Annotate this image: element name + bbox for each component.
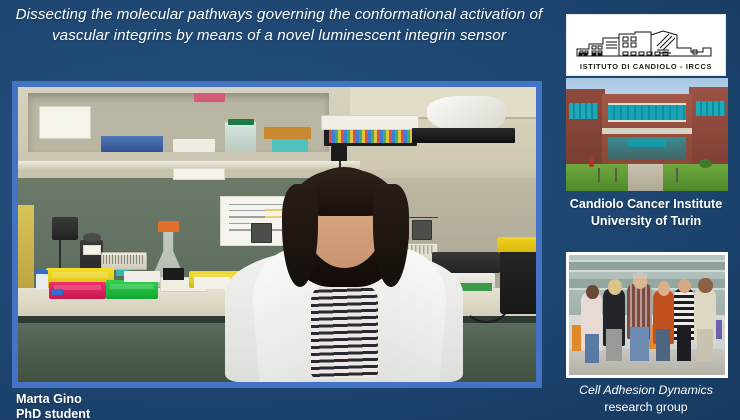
logo-text: ISTITUTO DI CANDIOLO - IRCCS xyxy=(580,62,712,71)
group-person-legs xyxy=(677,327,691,361)
shelf-orange-box xyxy=(264,127,311,139)
entrance-glass xyxy=(608,137,686,160)
institute-building-logo-icon xyxy=(573,26,719,62)
institute-building-photo xyxy=(566,78,728,191)
presentation-slide: Dissecting the molecular pathways govern… xyxy=(0,0,740,420)
candiolo-institute-logo: ISTITUTO DI CANDIOLO - IRCCS xyxy=(566,14,726,76)
group-person-hair xyxy=(633,272,647,278)
shelf-bottle xyxy=(225,122,256,152)
lab-shelving xyxy=(569,260,725,272)
shelf-white-tray xyxy=(321,115,419,130)
bollard xyxy=(676,168,678,182)
lab-stand-label xyxy=(83,245,101,255)
lab-white-box-bench xyxy=(124,271,160,281)
research-group-photo xyxy=(566,252,728,378)
research-group-caption-line1: Cell Adhesion Dynamics xyxy=(552,382,740,399)
shelf-cloth xyxy=(427,96,505,131)
group-person-legs xyxy=(656,329,670,360)
shelf-label-paper xyxy=(39,106,91,138)
shelf-cable-plug xyxy=(331,146,347,161)
presenter-role: PhD student xyxy=(16,407,276,420)
webcam-video-feed[interactable] xyxy=(18,87,536,382)
shelf-blue-box xyxy=(101,136,163,152)
building-right-wing xyxy=(689,87,728,166)
video-frame[interactable] xyxy=(12,81,542,388)
lab-green-rack xyxy=(106,280,158,299)
institute-caption-line2: University of Turin xyxy=(552,213,740,230)
research-group-caption: Cell Adhesion Dynamics research group xyxy=(552,382,740,416)
shelf-teal-box xyxy=(272,137,308,152)
lab-dark-block xyxy=(163,268,184,280)
striped-shirt xyxy=(311,283,378,378)
presenter-figure xyxy=(225,167,463,382)
lab-flask-cap xyxy=(158,221,179,231)
lab-waste-bin-lid xyxy=(497,237,536,252)
group-person-legs xyxy=(585,334,599,363)
group-person-legs xyxy=(630,327,649,361)
slide-title: Dissecting the molecular pathways govern… xyxy=(14,4,544,46)
lab-stand-knob xyxy=(83,233,101,242)
shelf-white-box xyxy=(173,139,214,152)
institute-caption-line1: Candiolo Cancer Institute xyxy=(552,196,740,213)
walkway xyxy=(628,164,664,191)
lab-waste-bin xyxy=(500,249,536,314)
bollard xyxy=(598,168,600,182)
shelf-marker-caps xyxy=(329,130,412,143)
presenter-name-block: Marta Gino PhD student xyxy=(16,392,276,420)
institute-caption: Candiolo Cancer Institute University of … xyxy=(552,196,740,229)
person-walking xyxy=(589,157,594,167)
lab-wall-fixture xyxy=(52,217,78,241)
shelf-dark-tray xyxy=(412,128,516,143)
shelf-pink-item xyxy=(194,93,225,102)
glass-facade-main xyxy=(608,103,686,122)
research-group-caption-line2: research group xyxy=(552,399,740,416)
group-person-head xyxy=(608,279,622,295)
lab-tube-body xyxy=(36,274,47,289)
lab-instrument-grill xyxy=(103,255,144,264)
group-person-head xyxy=(698,278,712,294)
glass-right xyxy=(696,101,725,117)
group-person-legs xyxy=(606,329,622,360)
group-person-head xyxy=(658,281,670,295)
group-person-legs xyxy=(697,329,713,360)
facade-band xyxy=(602,128,693,135)
building-left-wing xyxy=(566,89,605,166)
group-person-head xyxy=(586,285,598,299)
lab-wall-note-small xyxy=(173,168,225,180)
shelf-bottle-cap xyxy=(228,119,254,125)
bollard xyxy=(615,168,617,182)
lab-wall-yellow-panel xyxy=(18,205,34,299)
glass-left xyxy=(569,103,598,119)
group-person-head xyxy=(678,279,690,293)
presenter-name: Marta Gino xyxy=(16,392,276,407)
right-sidebar: ISTITUTO DI CANDIOLO - IRCCS Candiolo Ca… xyxy=(552,0,740,420)
lab-tube-blue-cap xyxy=(52,289,63,295)
